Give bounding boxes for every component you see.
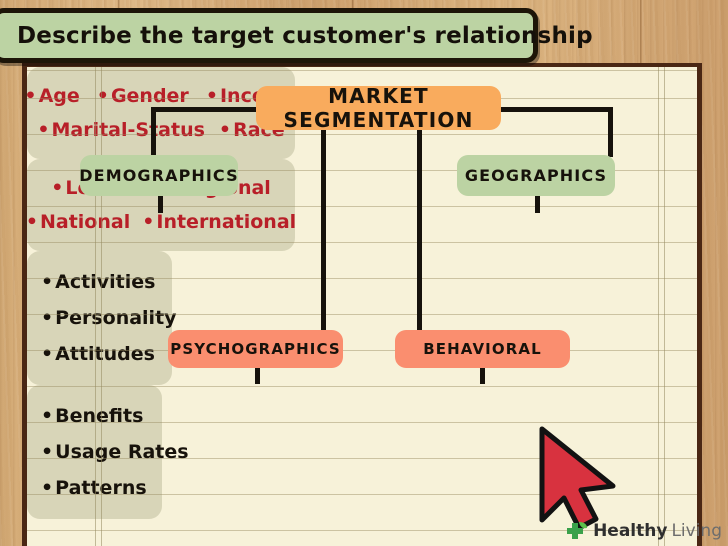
connector-behavioral-drop [417,125,422,345]
node-demographics[interactable]: DEMOGRAPHICS [80,155,238,196]
watermark-logo: Healthy Living [565,520,722,542]
node-label: PSYCHOGRAPHICS [170,340,341,358]
node-psychographics[interactable]: PSYCHOGRAPHICS [168,330,343,368]
paper-margin-line [101,67,102,546]
title-banner: Describe the target customer's relations… [0,8,538,63]
node-geographics[interactable]: GEOGRAPHICS [457,155,615,196]
paper-margin-line [664,67,665,546]
connector-demographics-to-list [158,195,163,213]
node-label: DEMOGRAPHICS [79,166,238,185]
paper-top-rule [27,70,697,71]
paper-margin-line [658,67,659,546]
arrow-cursor-icon [534,424,638,534]
node-market-segmentation[interactable]: MARKET SEGMENTATION [256,86,501,130]
connector-root-left [151,107,267,112]
node-label: GEOGRAPHICS [465,166,607,185]
screenshot-canvas: MARKET SEGMENTATION DEMOGRAPHICS •Age •G… [0,0,728,546]
node-behavioral[interactable]: BEHAVIORAL [395,330,570,368]
connector-root-right [497,107,613,112]
page-title: Describe the target customer's relations… [17,23,593,49]
connector-demographics-drop [151,107,156,157]
green-cross-leaf-icon [565,520,589,542]
connector-geographics-drop [608,107,613,157]
connector-geographics-to-list [535,195,540,213]
connector-psychographics-to-list [255,366,260,384]
connector-behavioral-to-list [480,366,485,384]
node-label: BEHAVIORAL [423,340,541,358]
watermark-subname: Living [671,521,722,541]
watermark-name: Healthy [593,521,667,541]
node-label: MARKET SEGMENTATION [256,84,501,132]
paper-margin-line [95,67,96,546]
connector-psychographics-drop [321,125,326,345]
